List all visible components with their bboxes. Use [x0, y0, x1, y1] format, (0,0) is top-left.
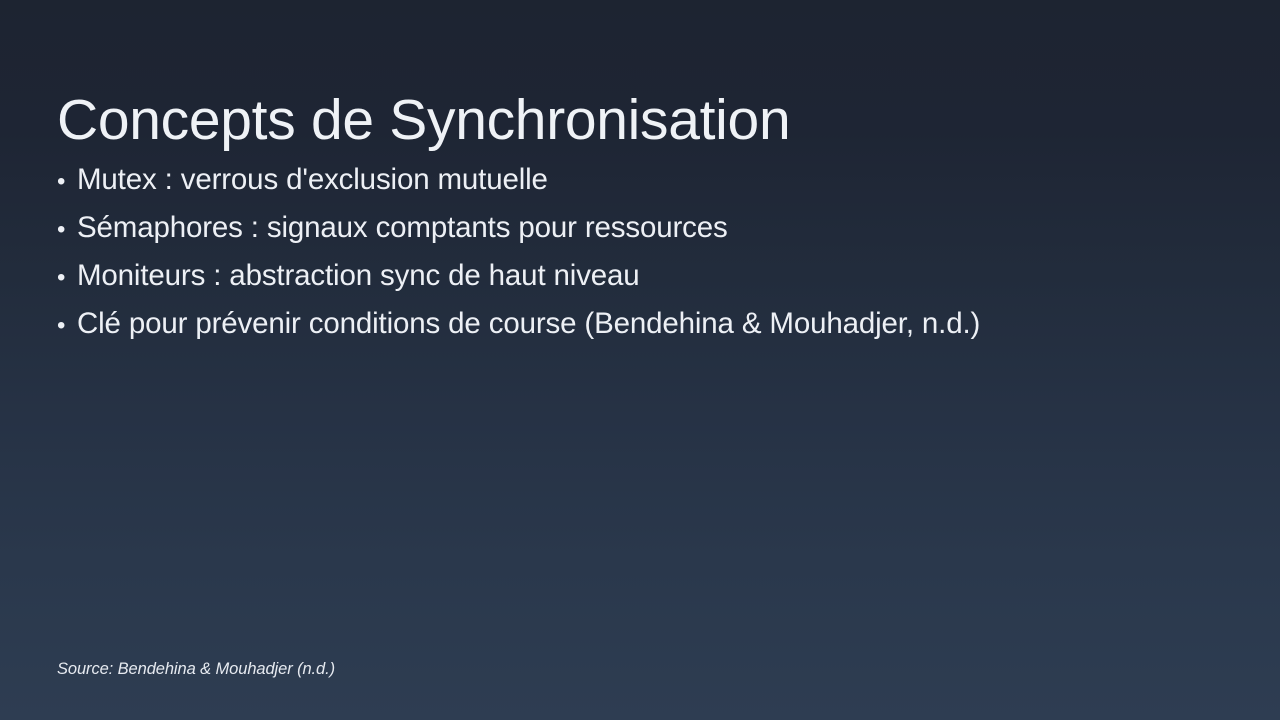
list-item-label: Sémaphores : signaux comptants pour ress… — [77, 204, 728, 252]
bullet-dot-icon: • — [57, 302, 77, 350]
page-title: Concepts de Synchronisation — [57, 90, 1217, 152]
list-item-label: Moniteurs : abstraction sync de haut niv… — [77, 252, 640, 300]
list-item: • Mutex : verrous d'exclusion mutuelle — [57, 156, 1237, 204]
bullet-list: • Mutex : verrous d'exclusion mutuelle •… — [57, 156, 1237, 348]
source-citation: Source: Bendehina & Mouhadjer (n.d.) — [57, 657, 335, 681]
bullet-dot-icon: • — [57, 158, 77, 206]
list-item-label: Clé pour prévenir conditions de course (… — [77, 300, 980, 348]
bullet-dot-icon: • — [57, 206, 77, 254]
presentation-slide: Concepts de Synchronisation • Mutex : ve… — [0, 0, 1280, 720]
list-item: • Moniteurs : abstraction sync de haut n… — [57, 252, 1237, 300]
list-item-label: Mutex : verrous d'exclusion mutuelle — [77, 156, 548, 204]
list-item: • Clé pour prévenir conditions de course… — [57, 300, 1237, 348]
list-item: • Sémaphores : signaux comptants pour re… — [57, 204, 1237, 252]
bullet-dot-icon: • — [57, 254, 77, 302]
